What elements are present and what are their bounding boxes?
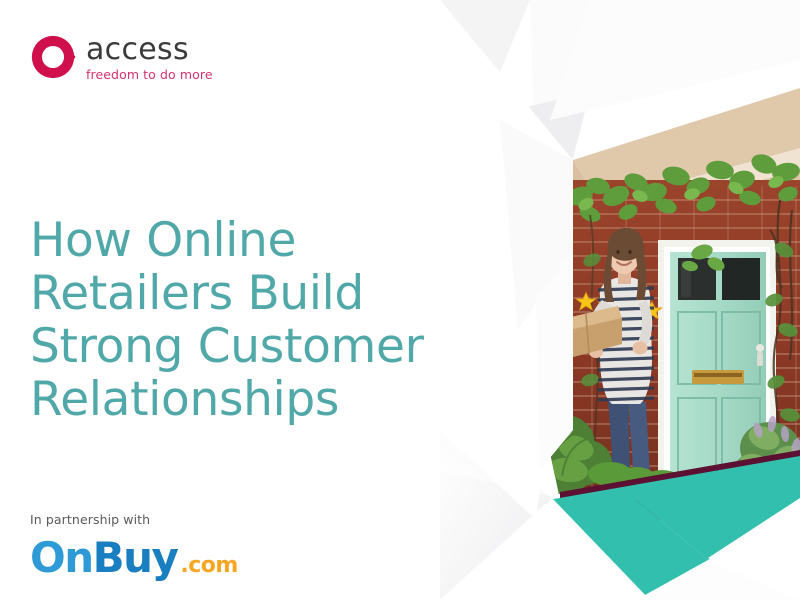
page-title: How Online Retailers Build Strong Custom… (30, 214, 450, 426)
access-logo-tagline: freedom to do more (86, 69, 213, 82)
title-line-3: Strong Customer (30, 320, 450, 373)
hero-artwork-illustration (440, 0, 800, 600)
access-brand-logo: access freedom to do more (30, 32, 213, 82)
onbuy-logo-com: .com (180, 553, 237, 578)
partnership-block: In partnership with OnBuy.com (30, 512, 238, 579)
onbuy-partner-logo: OnBuy.com (30, 537, 238, 579)
access-logo-wordmark: access freedom to do more (86, 32, 213, 82)
partnership-label: In partnership with (30, 512, 238, 527)
onbuy-logo-on: On (30, 533, 93, 582)
presentation-slide: access freedom to do more How Online Ret… (0, 0, 800, 600)
access-logo-name: access (86, 35, 213, 65)
title-line-4: Relationships (30, 373, 450, 426)
title-line-2: Retailers Build (30, 267, 450, 320)
hero-artwork (440, 0, 800, 600)
onbuy-logo-buy: Buy (93, 533, 178, 582)
access-circle-arrow-icon (30, 34, 76, 80)
title-line-1: How Online (30, 214, 450, 267)
